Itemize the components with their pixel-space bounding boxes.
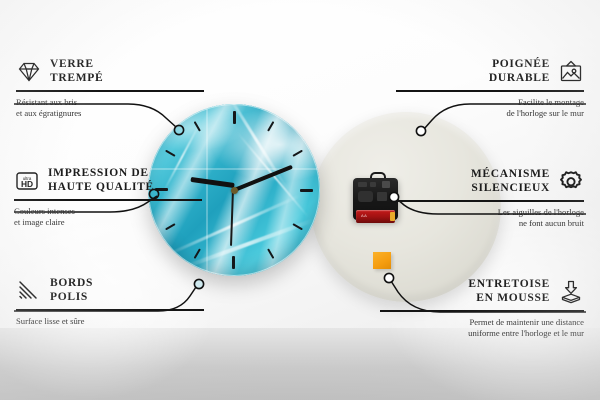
background-vignette — [0, 0, 600, 400]
infographic-stage: AA — [0, 0, 600, 400]
